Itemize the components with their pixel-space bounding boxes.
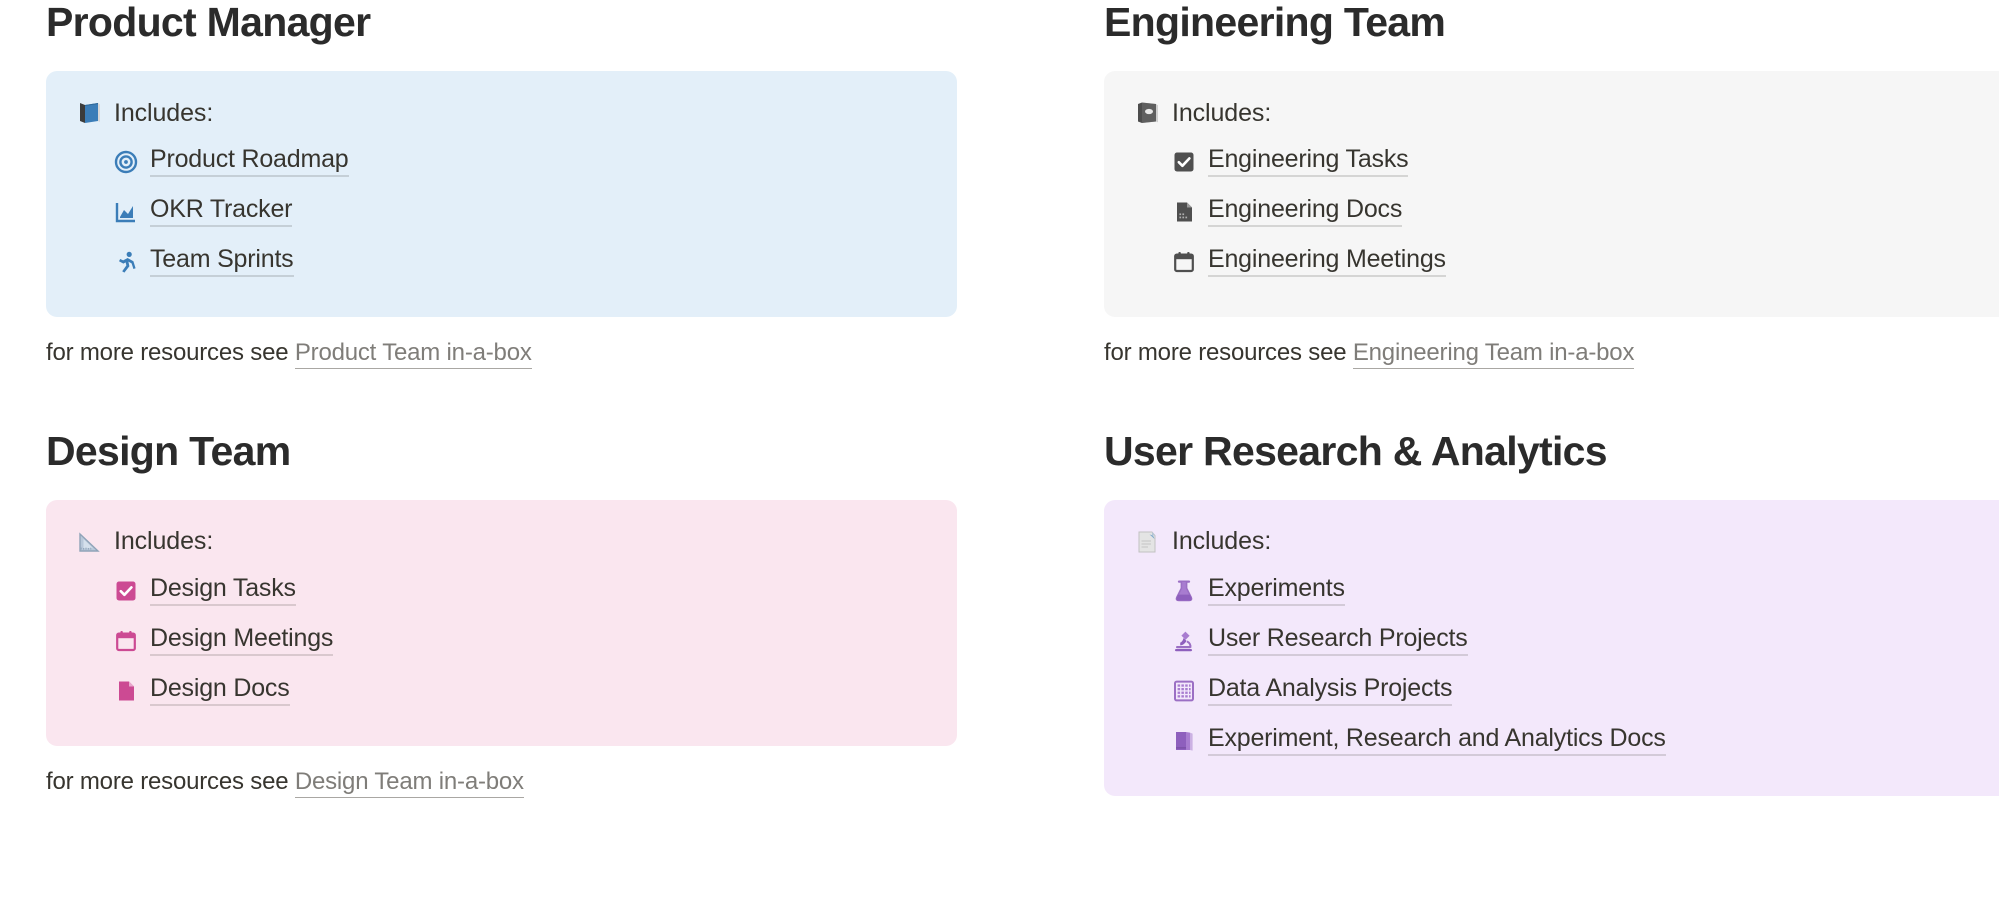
sections-grid: Product Manager Includes:	[46, 0, 1957, 796]
page-title: Engineering Team	[1104, 0, 1999, 44]
calendar-icon	[114, 629, 138, 653]
microscope-icon	[1172, 629, 1196, 653]
list-item-link[interactable]: Design Docs	[150, 676, 290, 706]
list-item-link[interactable]: Team Sprints	[150, 247, 294, 277]
notebook-icon	[1134, 100, 1160, 126]
list-item[interactable]: Data Analysis Projects	[1172, 666, 1989, 716]
page-root: Product Manager Includes:	[0, 0, 1999, 913]
row-spacer	[1104, 367, 1999, 429]
bar-chart-icon	[114, 200, 138, 224]
list-item[interactable]: Experiment, Research and Analytics Docs	[1172, 716, 1989, 766]
list-item-link[interactable]: Product Roadmap	[150, 147, 349, 177]
checkbox-checked-icon	[1172, 150, 1196, 174]
includes-header: Includes:	[76, 96, 927, 130]
list-item[interactable]: Engineering Meetings	[1172, 237, 1989, 287]
list-item-link[interactable]: Data Analysis Projects	[1208, 676, 1452, 706]
section-design-team: Design Team	[46, 429, 957, 796]
footnote-link[interactable]: Engineering Team in-a-box	[1353, 339, 1634, 369]
footnote: for more resources see Engineering Team …	[1104, 340, 1999, 366]
list-item-link[interactable]: Design Tasks	[150, 576, 296, 606]
list-item-link[interactable]: Experiment, Research and Analytics Docs	[1208, 726, 1666, 756]
list-item[interactable]: Design Docs	[114, 666, 927, 716]
includes-list: Experiments User Research	[1134, 566, 1989, 766]
list-item[interactable]: Design Tasks	[114, 566, 927, 616]
running-person-icon	[114, 250, 138, 274]
target-icon	[114, 150, 138, 174]
footnote-link[interactable]: Design Team in-a-box	[295, 768, 524, 798]
list-item-link[interactable]: Experiments	[1208, 576, 1345, 606]
list-item-link[interactable]: Design Meetings	[150, 626, 333, 656]
document-icon	[1172, 200, 1196, 224]
section-product-manager: Product Manager Includes:	[46, 0, 957, 367]
list-item[interactable]: Design Meetings	[114, 616, 927, 666]
list-item[interactable]: Engineering Docs	[1172, 187, 1989, 237]
includes-label: Includes:	[114, 101, 213, 126]
list-item[interactable]: Experiments	[1172, 566, 1989, 616]
includes-card: Includes: Engineering Tasks	[1104, 71, 1999, 317]
includes-header: Includes:	[1134, 525, 1989, 559]
flask-icon	[1172, 579, 1196, 603]
list-item-link[interactable]: User Research Projects	[1208, 626, 1468, 656]
abacus-icon	[1172, 679, 1196, 703]
includes-card: Includes: Product Roadmap	[46, 71, 957, 317]
page-curl-icon	[1134, 529, 1160, 555]
footnote: for more resources see Design Team in-a-…	[46, 769, 957, 795]
includes-header: Includes:	[76, 525, 927, 559]
page-title: Product Manager	[46, 0, 957, 44]
books-icon	[1172, 729, 1196, 753]
list-item-link[interactable]: Engineering Tasks	[1208, 147, 1408, 177]
includes-label: Includes:	[114, 529, 213, 554]
page-title: User Research & Analytics	[1104, 429, 1999, 473]
page-title: Design Team	[46, 429, 957, 473]
includes-label: Includes:	[1172, 101, 1271, 126]
list-item[interactable]: OKR Tracker	[114, 187, 927, 237]
row-spacer	[1030, 367, 1031, 429]
closed-book-icon	[76, 100, 102, 126]
footnote-prefix: for more resources see	[1104, 339, 1346, 366]
footnote: for more resources see Product Team in-a…	[46, 340, 957, 366]
list-item-link[interactable]: OKR Tracker	[150, 197, 292, 227]
includes-list: Engineering Tasks	[1134, 137, 1989, 287]
footnote-link[interactable]: Product Team in-a-box	[295, 339, 532, 369]
column-spacer	[1030, 429, 1031, 796]
calendar-icon	[1172, 250, 1196, 274]
row-spacer	[46, 367, 957, 429]
list-item-link[interactable]: Engineering Meetings	[1208, 247, 1446, 277]
footnote-prefix: for more resources see	[46, 768, 288, 795]
checkbox-checked-icon	[114, 579, 138, 603]
includes-card: Includes: Design Tasks	[46, 500, 957, 746]
list-item[interactable]: Product Roadmap	[114, 137, 927, 187]
list-item[interactable]: Engineering Tasks	[1172, 137, 1989, 187]
section-engineering-team: Engineering Team Includes:	[1104, 0, 1999, 367]
list-item-link[interactable]: Engineering Docs	[1208, 197, 1402, 227]
includes-label: Includes:	[1172, 529, 1271, 554]
includes-list: Design Tasks Design Meetings	[76, 566, 927, 716]
list-item[interactable]: User Research Projects	[1172, 616, 1989, 666]
column-spacer	[1030, 0, 1031, 367]
footnote-prefix: for more resources see	[46, 339, 288, 366]
includes-list: Product Roadmap OKR Tracker	[76, 137, 927, 287]
document-icon	[114, 679, 138, 703]
includes-header: Includes:	[1134, 96, 1989, 130]
section-user-research-analytics: User Research & Analytics	[1104, 429, 1999, 796]
list-item[interactable]: Team Sprints	[114, 237, 927, 287]
includes-card: Includes: Experiments	[1104, 500, 1999, 796]
triangular-ruler-icon	[76, 529, 102, 555]
